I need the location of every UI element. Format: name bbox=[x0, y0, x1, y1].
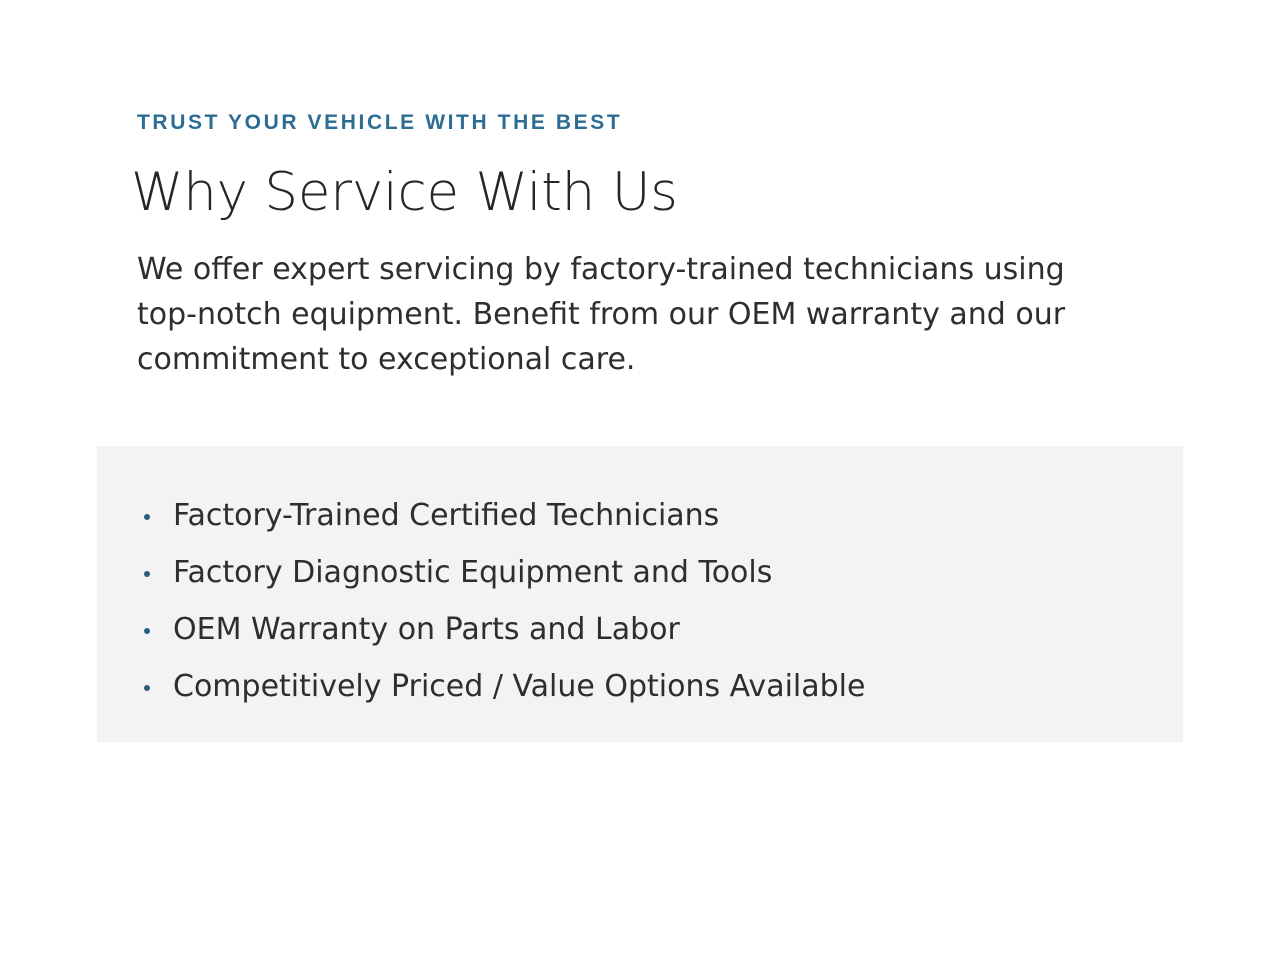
list-item: OEM Warranty on Parts and Labor bbox=[144, 601, 1183, 658]
bullet-dot-icon bbox=[144, 571, 150, 577]
page-title: Why Service With Us bbox=[97, 138, 1183, 224]
feature-panel: Factory-Trained Certified Technicians Fa… bbox=[97, 446, 1183, 742]
bullet-dot-icon bbox=[144, 514, 150, 520]
feature-label: Competitively Priced / Value Options Ava… bbox=[173, 658, 865, 715]
section-description: We offer expert servicing by factory-tra… bbox=[97, 224, 1097, 382]
bullet-dot-icon bbox=[144, 685, 150, 691]
list-item: Factory-Trained Certified Technicians bbox=[144, 487, 1183, 544]
feature-label: Factory-Trained Certified Technicians bbox=[173, 487, 719, 544]
list-item: Competitively Priced / Value Options Ava… bbox=[144, 658, 1183, 715]
feature-label: OEM Warranty on Parts and Labor bbox=[173, 601, 680, 658]
list-item: Factory Diagnostic Equipment and Tools bbox=[144, 544, 1183, 601]
bullet-dot-icon bbox=[144, 628, 150, 634]
page-canvas: Trust Your Vehicle With The Best Why Ser… bbox=[0, 0, 1280, 960]
feature-label: Factory Diagnostic Equipment and Tools bbox=[173, 544, 772, 601]
section-eyebrow: Trust Your Vehicle With The Best bbox=[97, 108, 1183, 138]
feature-list: Factory-Trained Certified Technicians Fa… bbox=[97, 446, 1183, 715]
section-text-block: Trust Your Vehicle With The Best Why Ser… bbox=[97, 108, 1183, 382]
